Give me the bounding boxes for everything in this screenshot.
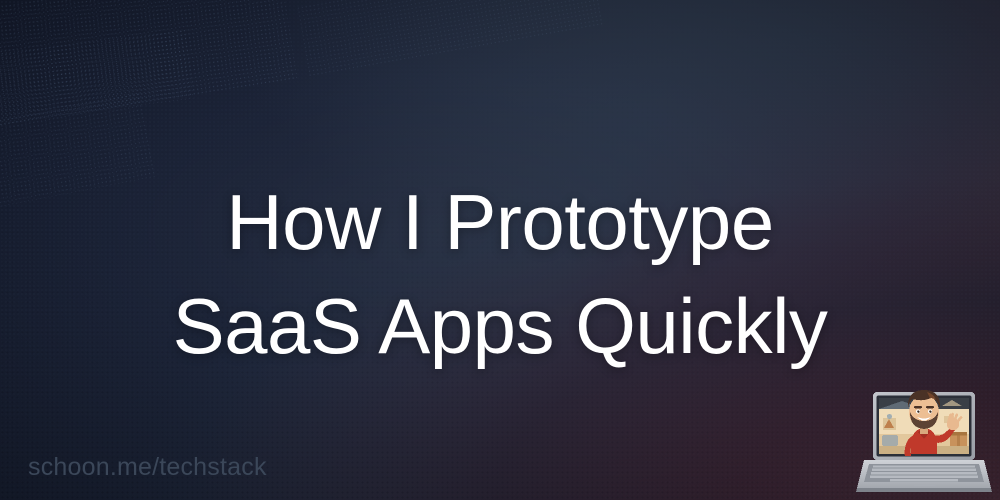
page-title-line-2: SaaS Apps Quickly <box>0 274 1000 378</box>
site-url-label: schoon.me/techstack <box>28 453 267 482</box>
page-title-line-1: How I Prototype <box>0 170 1000 274</box>
laptop-base <box>856 460 992 492</box>
page-title: How I Prototype SaaS Apps Quickly <box>0 170 1000 378</box>
laptop-front-edge <box>856 488 992 492</box>
laptop-trackpad <box>914 484 936 486</box>
banner-canvas: How I Prototype SaaS Apps Quickly schoon… <box>0 0 1000 500</box>
laptop-avatar-illustration <box>854 372 994 500</box>
